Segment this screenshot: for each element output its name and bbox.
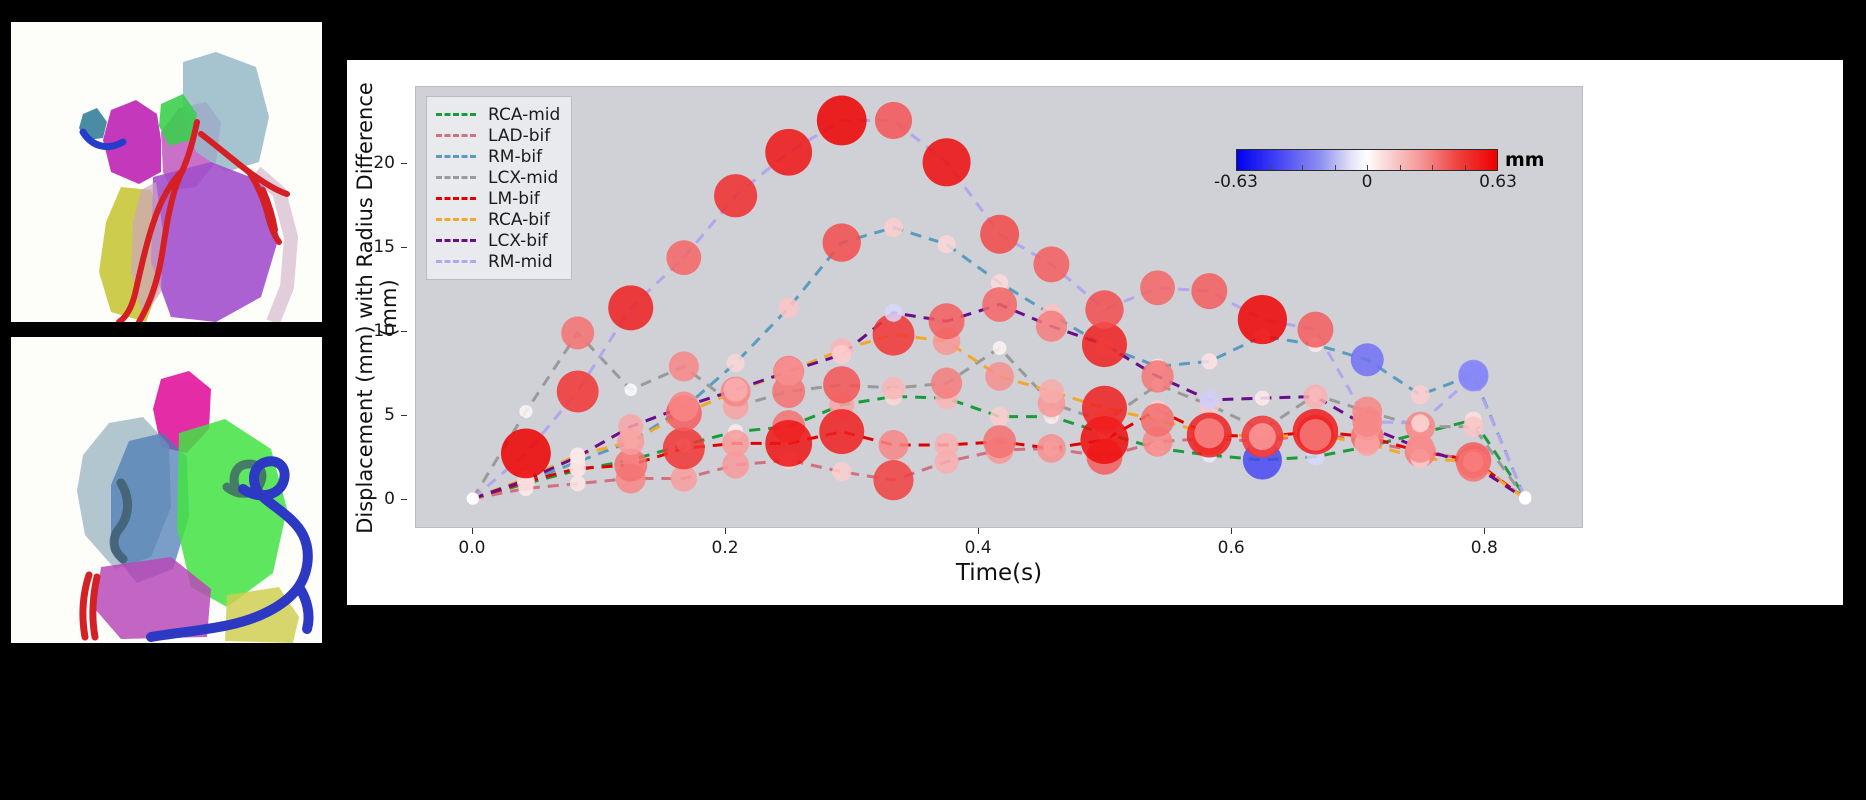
data-point-marker[interactable]	[1037, 434, 1066, 463]
data-point-marker[interactable]	[823, 366, 860, 403]
x-tick-mark	[472, 528, 473, 534]
colorbar-label-mid: 0	[1362, 172, 1373, 192]
data-point-marker[interactable]	[882, 377, 905, 400]
data-point-marker[interactable]	[1249, 423, 1276, 450]
data-point-marker[interactable]	[519, 405, 532, 418]
data-point-marker[interactable]	[817, 96, 867, 146]
data-point-marker[interactable]	[1463, 416, 1483, 436]
data-point-marker[interactable]	[929, 303, 965, 339]
data-point-marker[interactable]	[832, 462, 851, 481]
data-point-marker[interactable]	[1457, 449, 1490, 482]
data-point-marker[interactable]	[1033, 246, 1069, 282]
data-point-marker[interactable]	[669, 392, 699, 422]
legend-swatch-icon	[436, 218, 476, 221]
data-point-marker[interactable]	[624, 384, 637, 397]
cardiac-render-bottom-panel[interactable]	[11, 337, 322, 643]
data-point-marker[interactable]	[724, 378, 748, 402]
legend-label: RCA-mid	[488, 105, 560, 125]
y-tick-mark	[401, 331, 407, 332]
legend-swatch-icon	[436, 155, 476, 158]
data-point-marker[interactable]	[875, 102, 912, 139]
radius-difference-colorbar: mm -0.63 0 0.63	[1236, 149, 1546, 196]
coronary-arteries-tree-2	[83, 575, 97, 637]
x-tick-mark	[725, 528, 726, 534]
cardiac-render-top-panel[interactable]	[11, 22, 322, 322]
data-point-marker[interactable]	[1085, 290, 1123, 328]
legend-item-lcx-mid[interactable]: LCX-mid	[436, 167, 560, 188]
data-point-marker[interactable]	[765, 420, 812, 467]
data-point-marker[interactable]	[561, 316, 594, 349]
colorbar-tick-labels: -0.63 0 0.63	[1236, 172, 1498, 196]
data-point-marker[interactable]	[669, 351, 699, 381]
legend-label: LCX-bif	[488, 231, 548, 251]
data-point-marker[interactable]	[1201, 353, 1217, 369]
data-point-marker[interactable]	[1411, 414, 1429, 432]
data-point-marker[interactable]	[1039, 379, 1064, 404]
y-tick-label: 20	[373, 153, 395, 173]
y-tick-label: 5	[384, 405, 395, 425]
cardiac-anatomy-svg-top	[11, 22, 322, 322]
data-point-marker[interactable]	[885, 304, 903, 322]
data-point-marker[interactable]	[727, 354, 745, 372]
legend-item-lcx-bif[interactable]: LCX-bif	[436, 230, 560, 251]
data-point-marker[interactable]	[1519, 493, 1531, 505]
legend-label: LAD-bif	[488, 126, 550, 146]
chart-figure: Displacement (mm) with Radius Difference…	[347, 60, 1843, 605]
legend-label: LM-bif	[488, 189, 540, 209]
y-tick-mark	[401, 163, 407, 164]
data-point-marker[interactable]	[832, 345, 851, 364]
data-point-marker[interactable]	[765, 129, 812, 176]
x-tick-mark	[1484, 528, 1485, 534]
pulmonary-artery-shape	[103, 100, 161, 184]
legend-swatch-icon	[436, 239, 476, 242]
legend-swatch-icon	[436, 176, 476, 179]
data-point-marker[interactable]	[819, 409, 864, 454]
data-point-marker[interactable]	[935, 433, 959, 457]
y-tick-mark	[401, 499, 407, 500]
colorbar-label-low: -0.63	[1214, 172, 1258, 192]
data-point-marker[interactable]	[1303, 385, 1327, 409]
colorbar-tick-mark	[1270, 165, 1271, 170]
legend-item-rm-bif[interactable]: RM-bif	[436, 146, 560, 167]
legend-item-lm-bif[interactable]: LM-bif	[436, 188, 560, 209]
x-tick-label: 0.2	[712, 538, 739, 558]
data-point-marker[interactable]	[1200, 390, 1219, 409]
data-point-marker[interactable]	[722, 430, 749, 457]
data-point-marker[interactable]	[467, 493, 479, 505]
colorbar-label-high: 0.63	[1479, 172, 1517, 192]
x-tick-label: 0.8	[1471, 538, 1498, 558]
data-point-marker[interactable]	[1352, 407, 1382, 437]
x-tick-mark	[978, 528, 979, 534]
data-point-marker[interactable]	[501, 428, 551, 478]
x-tick-label: 0.6	[1218, 538, 1245, 558]
colorbar-tick-mark	[1432, 165, 1433, 170]
data-point-marker[interactable]	[980, 215, 1019, 254]
y-tick-label: 10	[373, 321, 395, 341]
data-point-marker[interactable]	[1351, 343, 1384, 376]
data-point-marker[interactable]	[1297, 312, 1333, 348]
data-point-marker[interactable]	[985, 362, 1014, 391]
colorbar-gradient	[1236, 149, 1498, 171]
colorbar-unit-label: mm	[1505, 149, 1545, 171]
data-point-marker[interactable]	[879, 430, 909, 460]
data-point-marker[interactable]	[1458, 361, 1488, 391]
chart-legend[interactable]: RCA-midLAD-bifRM-bifLCX-midLM-bifRCA-bif…	[426, 96, 572, 280]
data-point-marker[interactable]	[774, 357, 803, 386]
x-tick-mark	[1231, 528, 1232, 534]
data-point-marker[interactable]	[1141, 360, 1173, 392]
legend-swatch-icon	[436, 134, 476, 137]
screenshot-root: Displacement (mm) with Radius Difference…	[0, 0, 1866, 800]
data-point-marker[interactable]	[570, 476, 586, 492]
data-point-marker[interactable]	[557, 370, 599, 412]
data-point-marker[interactable]	[1406, 434, 1435, 463]
data-point-marker[interactable]	[1411, 385, 1430, 404]
data-point-marker[interactable]	[714, 174, 757, 217]
data-point-marker[interactable]	[666, 240, 701, 275]
plot-area[interactable]: RCA-midLAD-bifRM-bifLCX-midLM-bifRCA-bif…	[415, 86, 1583, 528]
x-tick-label: 0.4	[965, 538, 992, 558]
data-point-marker[interactable]	[931, 368, 962, 399]
colorbar-tick-mark	[1302, 165, 1303, 170]
legend-item-lad-bif[interactable]: LAD-bif	[436, 125, 560, 146]
data-point-marker[interactable]	[778, 298, 798, 318]
data-point-marker[interactable]	[823, 223, 861, 261]
data-point-marker[interactable]	[990, 407, 1009, 426]
data-point-marker[interactable]	[1238, 295, 1287, 344]
colorbar-tick-mark	[1335, 165, 1336, 170]
legend-label: RCA-bif	[488, 210, 550, 230]
data-point-marker[interactable]	[993, 341, 1007, 355]
colorbar-tick-mark	[1367, 165, 1368, 170]
y-tick-mark	[401, 247, 407, 248]
legend-item-rm-mid[interactable]: RM-mid	[436, 251, 560, 272]
y-tick-label: 15	[373, 237, 395, 257]
x-axis-label: Time(s)	[415, 560, 1583, 586]
y-tick-mark	[401, 415, 407, 416]
data-point-marker[interactable]	[1082, 322, 1127, 367]
data-point-marker[interactable]	[923, 138, 971, 186]
legend-label: RM-bif	[488, 147, 542, 167]
data-point-marker[interactable]	[663, 427, 705, 469]
data-point-marker[interactable]	[570, 449, 586, 465]
cardiac-anatomy-svg-bottom	[11, 337, 322, 643]
data-point-marker[interactable]	[608, 285, 653, 330]
legend-item-rca-mid[interactable]: RCA-mid	[436, 104, 560, 125]
data-point-marker[interactable]	[1141, 403, 1175, 437]
y-tick-label: 0	[384, 489, 395, 509]
data-point-marker[interactable]	[938, 235, 956, 253]
data-point-marker[interactable]	[618, 414, 643, 439]
colorbar-tick-mark	[1400, 165, 1401, 170]
data-point-marker[interactable]	[884, 218, 903, 237]
y-axis-ticks: 05101520	[347, 86, 407, 528]
colorbar-tick-mark	[1465, 165, 1466, 170]
data-point-marker[interactable]	[873, 460, 913, 500]
x-tick-label: 0.0	[458, 538, 485, 558]
data-point-marker[interactable]	[1082, 386, 1127, 431]
legend-swatch-icon	[436, 260, 476, 263]
data-point-marker[interactable]	[1140, 270, 1175, 305]
data-point-marker[interactable]	[1194, 418, 1224, 448]
legend-label: LCX-mid	[488, 168, 558, 188]
data-point-marker[interactable]	[1255, 391, 1270, 406]
legend-label: RM-mid	[488, 252, 553, 272]
data-point-marker[interactable]	[983, 425, 1016, 458]
data-point-marker[interactable]	[982, 287, 1017, 322]
data-point-marker[interactable]	[1300, 419, 1332, 451]
legend-swatch-icon	[436, 197, 476, 200]
legend-item-rca-bif[interactable]: RCA-bif	[436, 209, 560, 230]
legend-swatch-icon	[436, 113, 476, 116]
data-point-marker[interactable]	[1191, 273, 1227, 309]
data-point-marker[interactable]	[1036, 311, 1067, 342]
